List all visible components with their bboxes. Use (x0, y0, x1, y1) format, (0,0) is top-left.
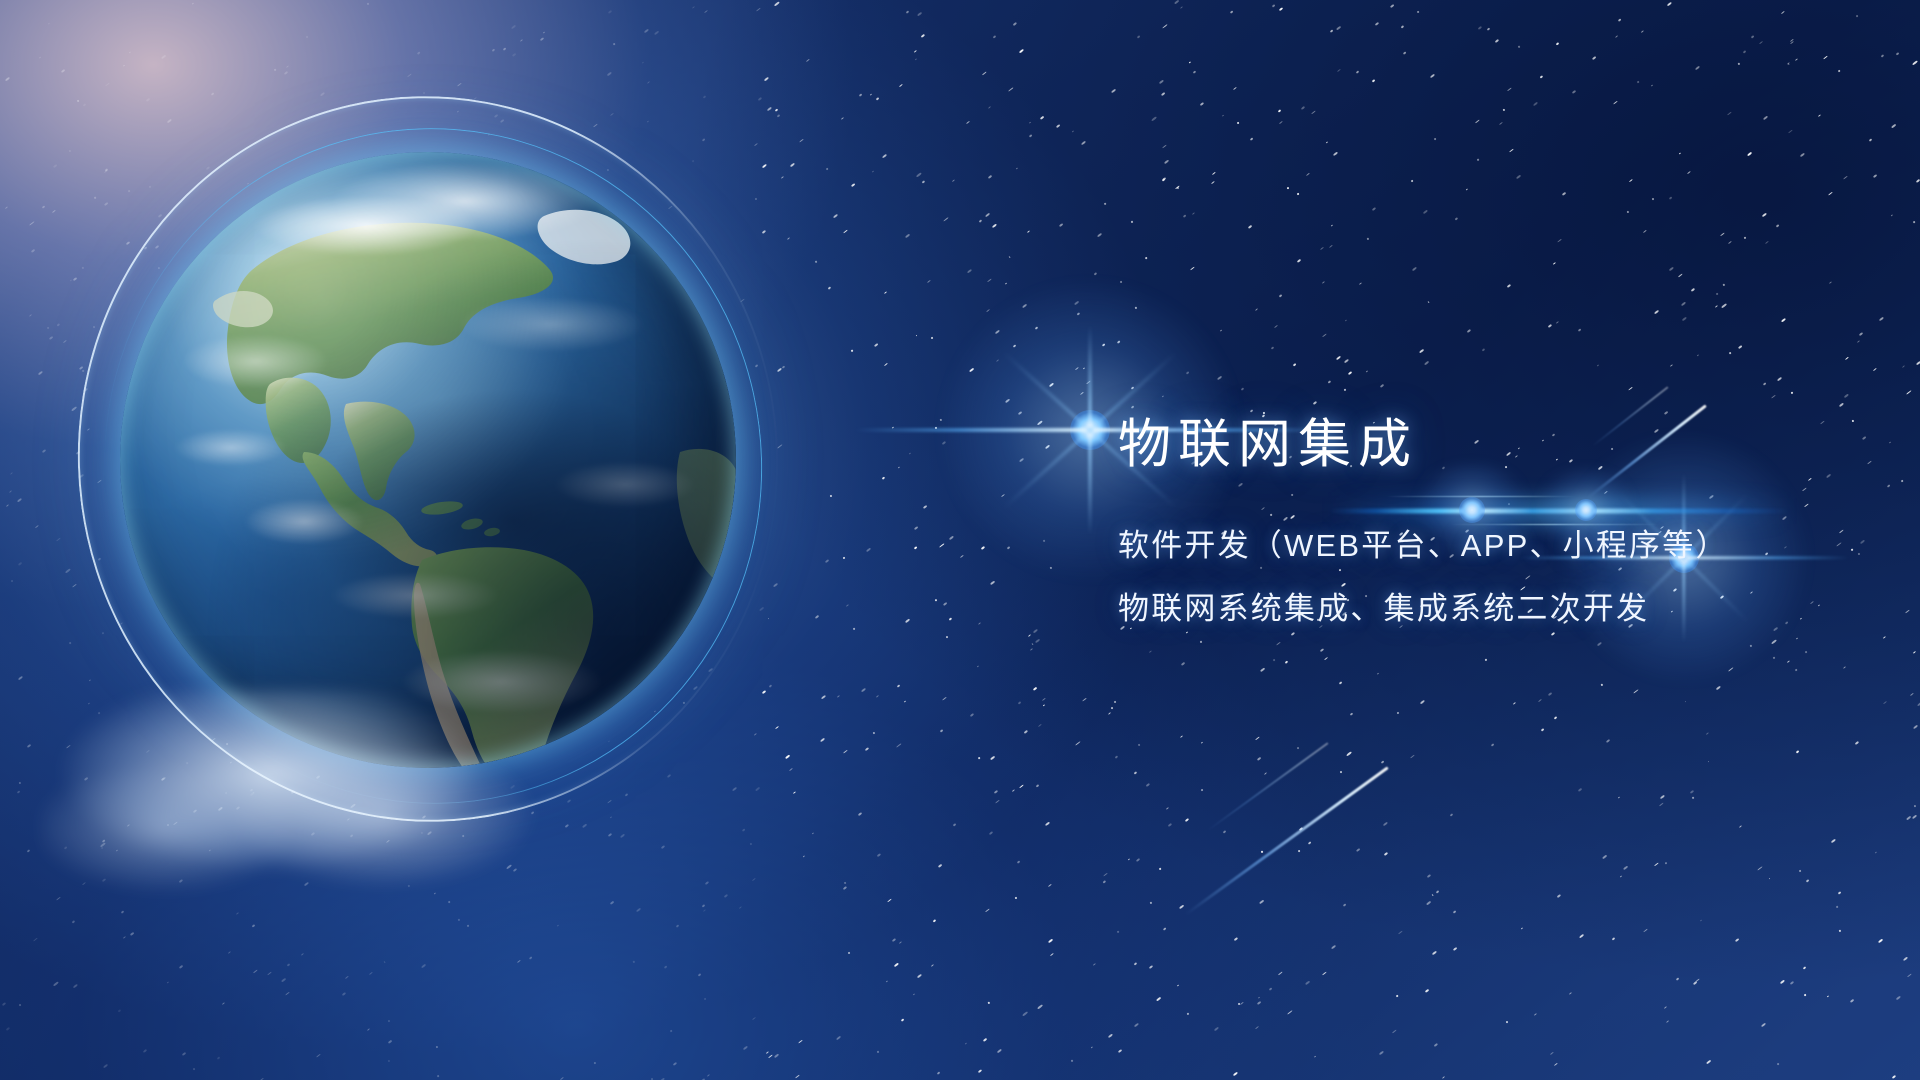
globe-rim-light (120, 152, 736, 768)
banner-subline-2: 物联网系统集成、集成系统二次开发 (1118, 593, 1649, 624)
iot-integration-banner: 物联网集成 软件开发（WEB平台、APP、小程序等） 物联网系统集成、集成系统二… (0, 0, 1920, 1080)
globe-sphere (120, 152, 736, 768)
banner-headline: 物联网集成 (1118, 418, 1878, 471)
earth-globe (120, 152, 736, 768)
banner-text-block: 物联网集成 软件开发（WEB平台、APP、小程序等） 物联网系统集成、集成系统二… (1118, 418, 1878, 471)
banner-subline-1: 软件开发（WEB平台、APP、小程序等） (1118, 530, 1729, 561)
